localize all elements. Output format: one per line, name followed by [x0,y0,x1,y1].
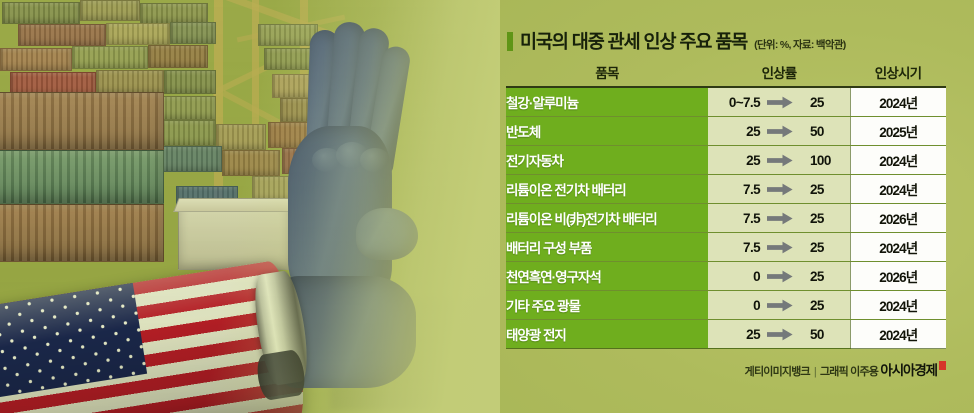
cell-item: 반도체 [506,117,708,146]
column-header-item: 품목 [506,61,708,87]
cell-item: 배터리 구성 부품 [506,233,708,262]
rate-from: 7.5 [708,240,760,255]
rate-from: 0~7.5 [708,95,760,110]
thumb [356,208,418,260]
column-header-rate: 인상률 [708,61,850,87]
credits-separator: | [810,366,820,378]
page-subtitle: (단위: %, 자료: 백악관) [754,37,845,52]
table-row: 전기자동차251002024년 [506,146,946,175]
table-row: 철강·알루미늄0~7.5252024년 [506,87,946,117]
tariff-table-body: 철강·알루미늄0~7.5252024년반도체25502025년전기자동차2510… [506,87,946,349]
column-header-year: 인상시기 [850,61,946,87]
cell-item: 전기자동차 [506,146,708,175]
cell-rate: 25100 [708,146,850,175]
cell-year: 2024년 [850,175,946,204]
cell-rate: 2550 [708,117,850,146]
rate-from: 0 [708,298,760,313]
panel-header: 미국의 대중 관세 인상 주요 품목 (단위: %, 자료: 백악관) [506,28,946,54]
rate-to: 50 [800,327,850,342]
rate-to: 25 [800,211,850,226]
rate-from: 7.5 [708,211,760,226]
arrow-right-icon [760,183,800,196]
cell-year: 2024년 [850,87,946,117]
table-row: 리튬이온 전기차 배터리7.5252024년 [506,175,946,204]
rate-from: 25 [708,153,760,168]
table-row: 천연흑연·영구자석0252026년 [506,262,946,291]
rate-to: 100 [800,153,850,168]
page-title: 미국의 대중 관세 인상 주요 품목 [520,28,747,54]
table-row: 태양광 전지25502024년 [506,320,946,349]
cell-year: 2026년 [850,204,946,233]
arrow-right-icon [760,212,800,225]
brand-name: 아시아경제 [880,363,937,378]
cell-rate: 7.525 [708,204,850,233]
table-row: 기타 주요 광물0252024년 [506,291,946,320]
infographic-root: 미국의 대중 관세 인상 주요 품목 (단위: %, 자료: 백악관) 품목 인… [0,0,974,413]
cell-item: 리튬이온 비(非)전기차 배터리 [506,204,708,233]
arrow-right-icon [760,154,800,167]
credits: 게티이미지뱅크|그래픽 이주용 아시아경제 [506,359,952,379]
cell-year: 2024년 [850,320,946,349]
rate-to: 50 [800,124,850,139]
cell-item: 기타 주요 광물 [506,291,708,320]
cell-rate: 025 [708,262,850,291]
graphic-author: 그래픽 이주용 [820,366,878,378]
table-row: 배터리 구성 부품7.5252024년 [506,233,946,262]
arrow-right-icon [760,270,800,283]
cell-year: 2024년 [850,291,946,320]
cell-rate: 0~7.525 [708,87,850,117]
cell-rate: 7.525 [708,175,850,204]
brand-logo-mark [939,361,946,370]
rate-to: 25 [800,240,850,255]
cell-year: 2026년 [850,262,946,291]
cell-year: 2024년 [850,233,946,262]
arrow-right-icon [760,299,800,312]
rate-from: 7.5 [708,182,760,197]
arrow-right-icon [760,125,800,138]
cell-year: 2024년 [850,146,946,175]
rate-from: 25 [708,327,760,342]
illustration-photo [0,0,500,413]
cell-item: 천연흑연·영구자석 [506,262,708,291]
cell-item: 철강·알루미늄 [506,87,708,117]
cell-rate: 025 [708,291,850,320]
cuff-shadow [255,349,308,402]
tariff-panel: 미국의 대중 관세 인상 주요 품목 (단위: %, 자료: 백악관) 품목 인… [506,28,946,349]
tariff-table: 품목 인상률 인상시기 철강·알루미늄0~7.5252024년반도체255020… [506,61,946,349]
rate-from: 0 [708,269,760,284]
rate-to: 25 [800,182,850,197]
title-accent-bar [507,32,513,51]
rate-to: 25 [800,95,850,110]
arrow-right-icon [760,96,800,109]
cell-rate: 2550 [708,320,850,349]
rate-to: 25 [800,269,850,284]
cell-rate: 7.525 [708,233,850,262]
photo-source: 게티이미지뱅크 [745,366,810,378]
table-row: 반도체25502025년 [506,117,946,146]
cell-item: 태양광 전지 [506,320,708,349]
table-row: 리튬이온 비(非)전기차 배터리7.5252026년 [506,204,946,233]
cell-year: 2025년 [850,117,946,146]
cell-item: 리튬이온 전기차 배터리 [506,175,708,204]
rate-to: 25 [800,298,850,313]
table-header-row: 품목 인상률 인상시기 [506,61,946,87]
arrow-right-icon [760,241,800,254]
arrow-right-icon [760,328,800,341]
rate-from: 25 [708,124,760,139]
